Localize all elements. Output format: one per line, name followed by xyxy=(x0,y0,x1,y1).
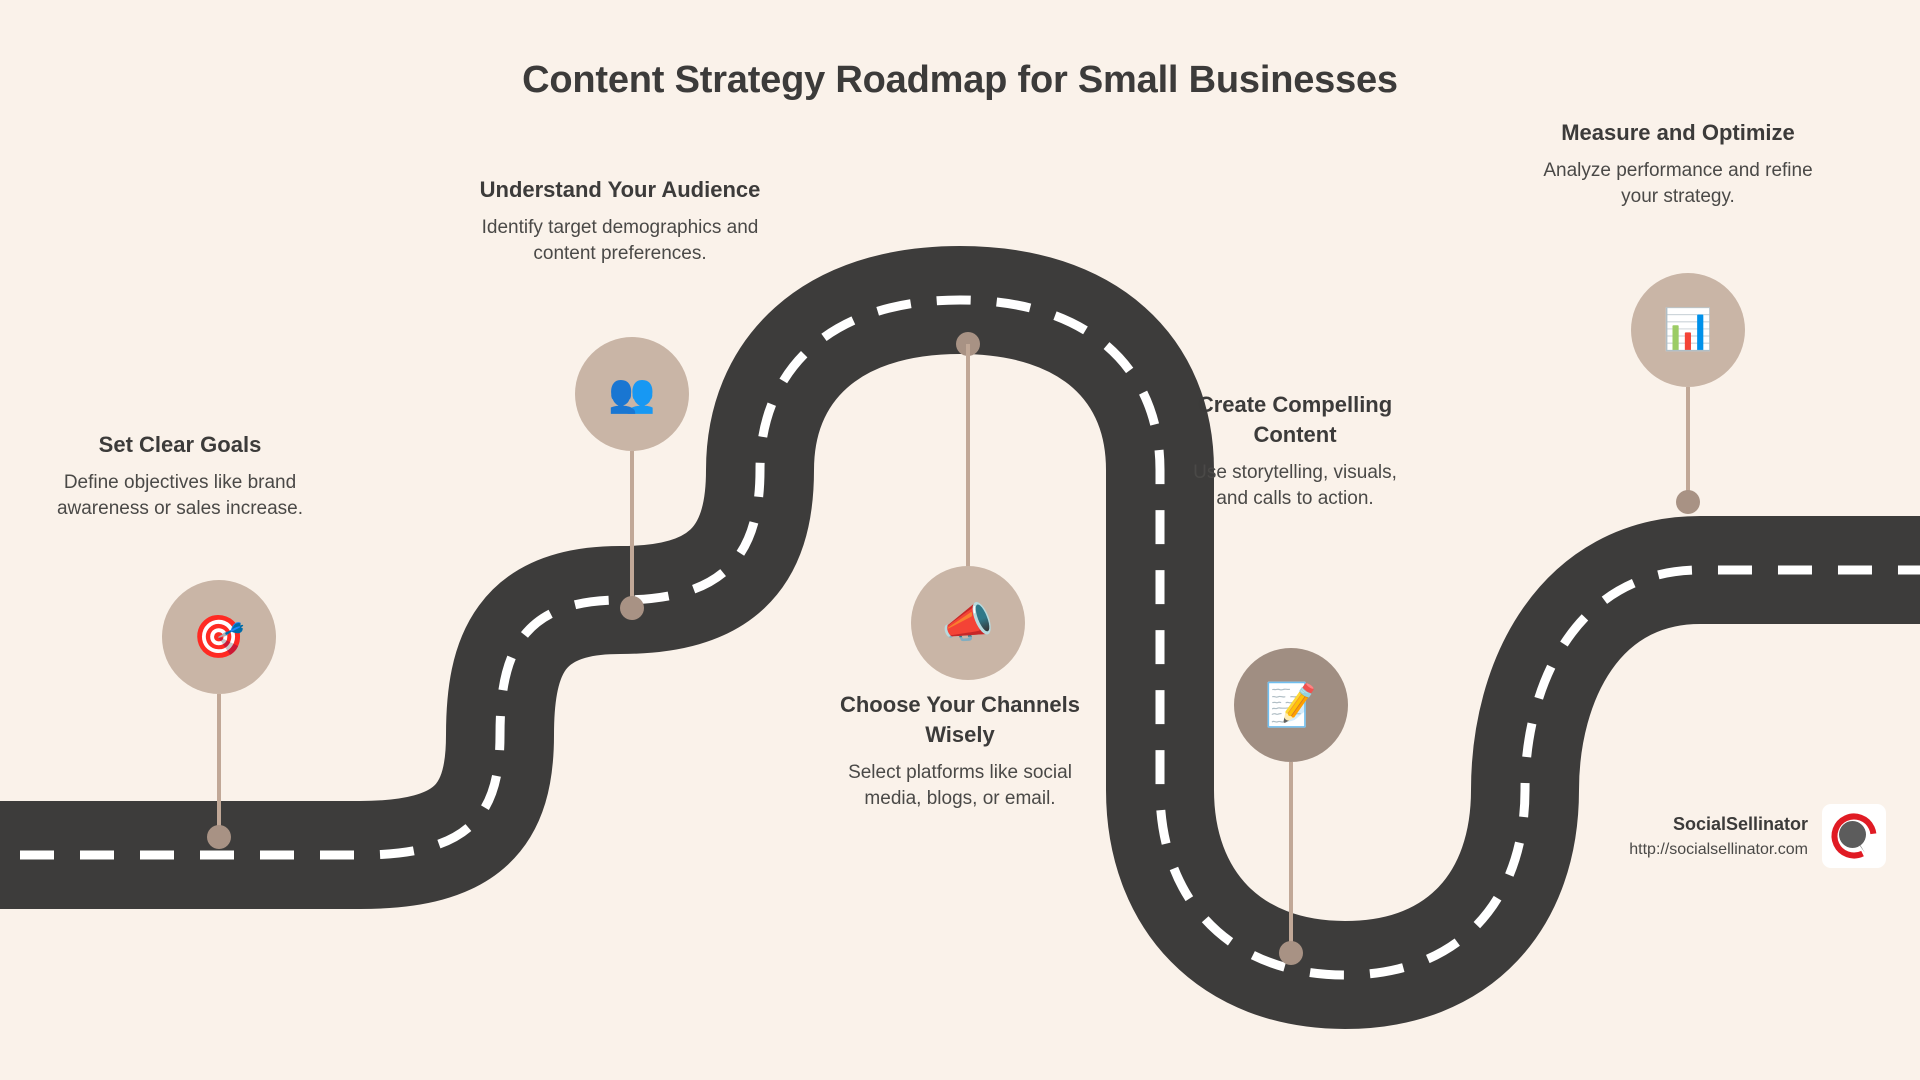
bar-chart-icon: 📊 xyxy=(1663,310,1713,350)
busts-in-silhouette-icon: 👥 xyxy=(608,375,655,413)
step-title: Measure and Optimize xyxy=(1528,118,1828,148)
marker-dot xyxy=(1279,941,1303,965)
marker-dot xyxy=(207,825,231,849)
step-text-choose-your-channels-wisely: Choose Your Channels Wisely Select platf… xyxy=(820,690,1100,812)
step-text-understand-your-audience: Understand Your Audience Identify target… xyxy=(450,175,790,267)
memo-icon: 📝 xyxy=(1265,684,1317,726)
brand-footer[interactable]: SocialSellinator http://socialsellinator… xyxy=(1629,804,1886,868)
marker-bubble[interactable]: 📊 xyxy=(1631,273,1745,387)
brand-text-block: SocialSellinator http://socialsellinator… xyxy=(1629,811,1808,862)
socialsellinator-logo-icon[interactable] xyxy=(1822,804,1886,868)
marker-stem xyxy=(966,344,970,579)
page-title: Content Strategy Roadmap for Small Busin… xyxy=(0,58,1920,104)
marker-dot xyxy=(1676,490,1700,514)
step-text-create-compelling-content: Create Compelling Content Use storytelli… xyxy=(1185,390,1405,512)
marker-stem xyxy=(1289,762,1293,958)
marker-dot xyxy=(620,596,644,620)
marker-stem xyxy=(630,451,634,607)
step-title: Understand Your Audience xyxy=(450,175,790,205)
brand-name: SocialSellinator xyxy=(1629,811,1808,838)
infographic-canvas: Content Strategy Roadmap for Small Busin… xyxy=(0,0,1920,1080)
step-description: Analyze performance and refine your stra… xyxy=(1528,158,1828,210)
step-text-set-clear-goals: Set Clear Goals Define objectives like b… xyxy=(25,430,335,522)
logo-mark xyxy=(1829,811,1879,861)
direct-hit-target-icon: 🎯 xyxy=(193,616,245,658)
step-title: Choose Your Channels Wisely xyxy=(820,690,1100,750)
marker-bubble[interactable]: 👥 xyxy=(575,337,689,451)
brand-url[interactable]: http://socialsellinator.com xyxy=(1629,838,1808,862)
marker-bubble[interactable]: 🎯 xyxy=(162,580,276,694)
step-description: Identify target demographics and content… xyxy=(450,215,790,267)
megaphone-icon: 📣 xyxy=(942,602,994,644)
step-description: Use storytelling, visuals, and calls to … xyxy=(1185,460,1405,512)
marker-bubble[interactable]: 📝 xyxy=(1234,648,1348,762)
marker-bubble[interactable]: 📣 xyxy=(911,566,1025,680)
step-text-measure-and-optimize: Measure and Optimize Analyze performance… xyxy=(1528,118,1828,210)
step-title: Set Clear Goals xyxy=(25,430,335,460)
step-title: Create Compelling Content xyxy=(1185,390,1405,450)
step-description: Select platforms like social media, blog… xyxy=(820,760,1100,812)
step-description: Define objectives like brand awareness o… xyxy=(25,470,335,522)
marker-stem xyxy=(217,694,221,836)
